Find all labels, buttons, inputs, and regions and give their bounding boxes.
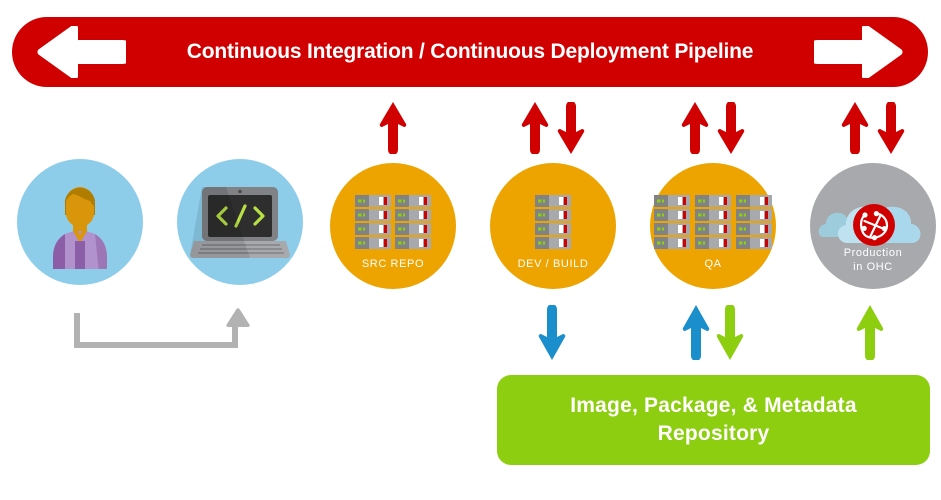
pipeline-banner-label: Continuous Integration / Continuous Depl… (12, 17, 928, 87)
repository-box: Image, Package, & Metadata Repository (497, 375, 930, 465)
qa-to-repo-down-arrow (716, 305, 744, 360)
cloud-openshift-icon (810, 181, 936, 247)
person-icon (17, 181, 143, 269)
node-developer[interactable] (17, 159, 143, 285)
server-rack-icon (490, 195, 616, 249)
server-rack-icon (330, 195, 456, 249)
repository-label: Image, Package, & Metadata Repository (570, 392, 857, 448)
pipeline-to-dev-build-down-arrow (557, 102, 585, 154)
repo-to-production-up-arrow (856, 305, 884, 360)
node-label-production-ohc-line1: Production (810, 247, 936, 260)
dev-build-to-repo-down-arrow (538, 305, 566, 360)
dev-build-to-pipeline-up-arrow (521, 102, 549, 154)
node-code-laptop[interactable] (177, 159, 303, 285)
node-qa[interactable]: QA (650, 163, 776, 289)
pipeline-banner: Continuous Integration / Continuous Depl… (12, 17, 928, 87)
elbow-arrow-up-icon (66, 303, 256, 355)
arrow-right-icon (814, 26, 906, 78)
node-label-production-ohc-line2: in OHC (810, 261, 936, 274)
node-src-repo[interactable]: SRC REPO (330, 163, 456, 289)
pipeline-to-production-down-arrow (877, 102, 905, 154)
qa-to-pipeline-up-arrow (681, 102, 709, 154)
diagram-canvas: Continuous Integration / Continuous Depl… (0, 0, 941, 500)
repository-label-line1: Image, Package, & Metadata (570, 394, 857, 417)
node-label-dev-build: DEV / BUILD (490, 258, 616, 271)
production-to-pipeline-up-arrow (841, 102, 869, 154)
node-label-qa: QA (650, 258, 776, 271)
server-rack-icon (650, 195, 776, 249)
node-dev-build[interactable]: DEV / BUILD (490, 163, 616, 289)
src-repo-to-pipeline-up-arrow (379, 102, 407, 154)
repository-label-line2: Repository (658, 422, 770, 445)
pipeline-to-qa-down-arrow (717, 102, 745, 154)
repo-to-qa-up-arrow (682, 305, 710, 360)
laptop-code-icon (177, 187, 303, 261)
node-label-src-repo: SRC REPO (330, 258, 456, 271)
node-production-ohc[interactable]: Production in OHC (810, 163, 936, 289)
